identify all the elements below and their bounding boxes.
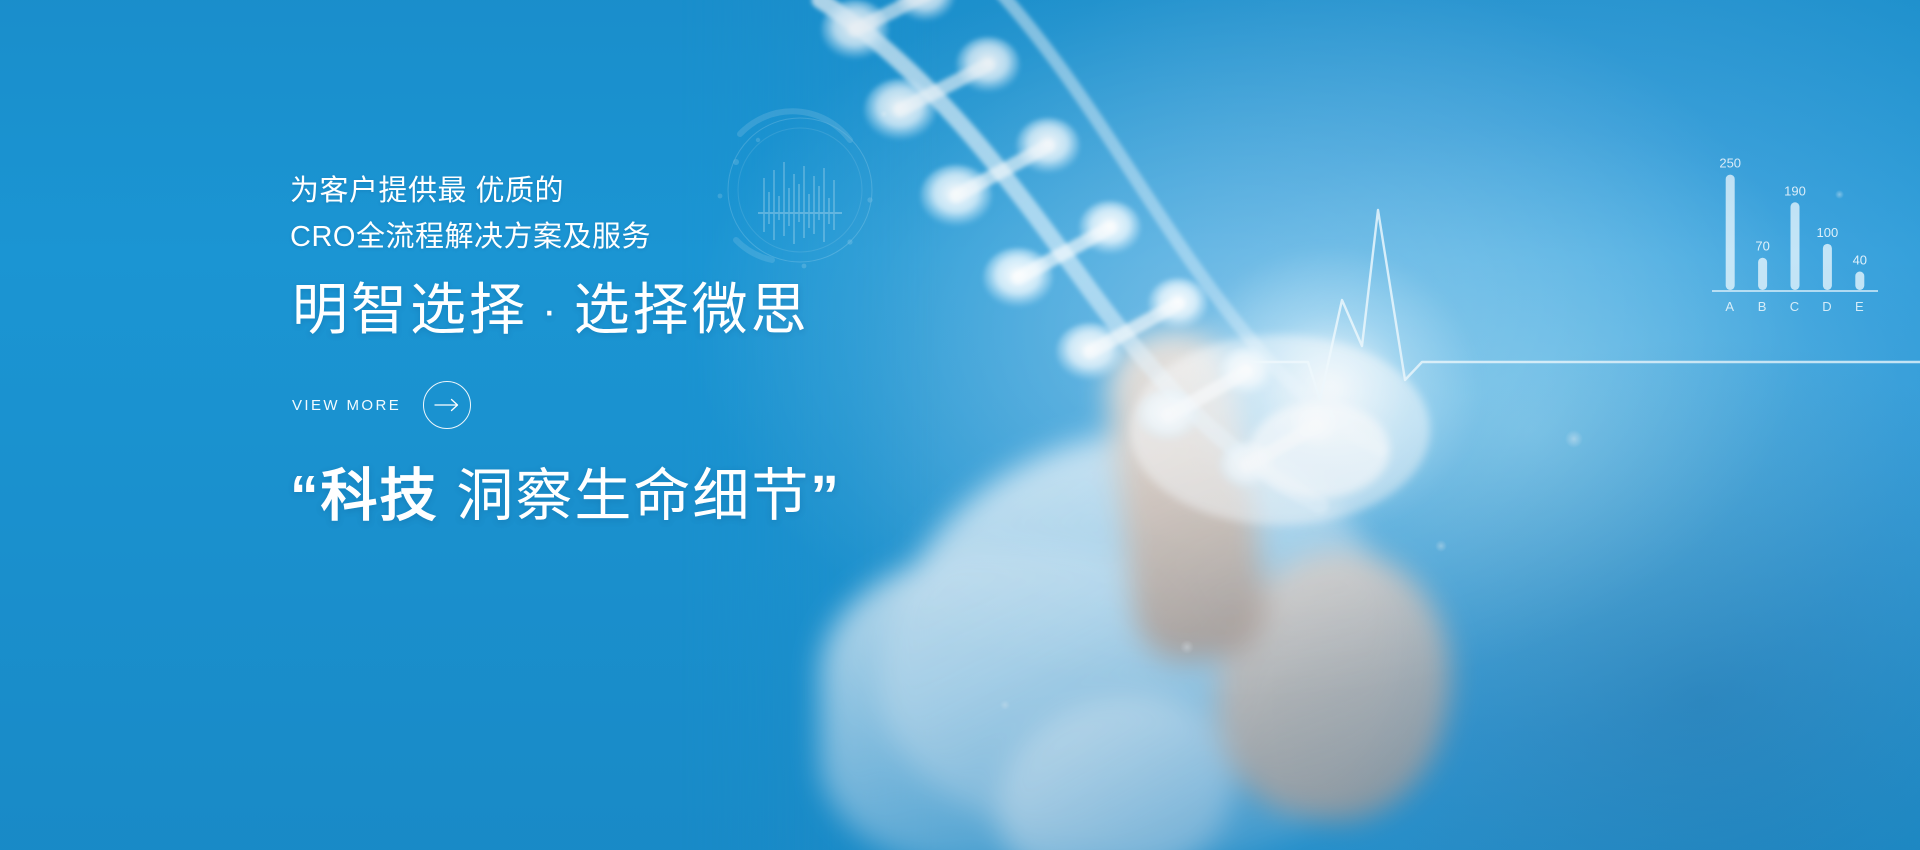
- view-more-label: VIEW MORE: [292, 397, 401, 414]
- hero-subtitle-line-1: 为客户提供最 优质的: [290, 175, 564, 207]
- hero-headline-part-2: 选择微思: [574, 278, 810, 341]
- hero-subtitle: 为客户提供最 优质的 CRO全流程解决方案及服务: [290, 168, 651, 260]
- quote-open-mark: “: [290, 464, 321, 528]
- hero-subtitle-line-2: CRO全流程解决方案及服务: [290, 214, 651, 260]
- quote-close-mark: ”: [810, 464, 841, 528]
- quote-light-text: 洞察生命细节: [439, 464, 811, 528]
- hero-quote: “科技 洞察生命细节”: [290, 456, 841, 536]
- hero-content: 为客户提供最 优质的 CRO全流程解决方案及服务 明智选择·选择微思 VIEW …: [290, 0, 1010, 850]
- hero-headline-part-1: 明智选择: [292, 278, 528, 341]
- quote-strong-text: 科技: [321, 464, 439, 528]
- hero-headline: 明智选择·选择微思: [292, 274, 810, 347]
- arrow-right-icon[interactable]: [423, 381, 471, 429]
- hero-banner: 250A70B190C100D40E 为客户提供最 优质的 CRO全流程解决方案…: [0, 0, 1920, 850]
- hero-headline-separator: ·: [528, 286, 574, 335]
- view-more-button[interactable]: VIEW MORE: [292, 381, 471, 429]
